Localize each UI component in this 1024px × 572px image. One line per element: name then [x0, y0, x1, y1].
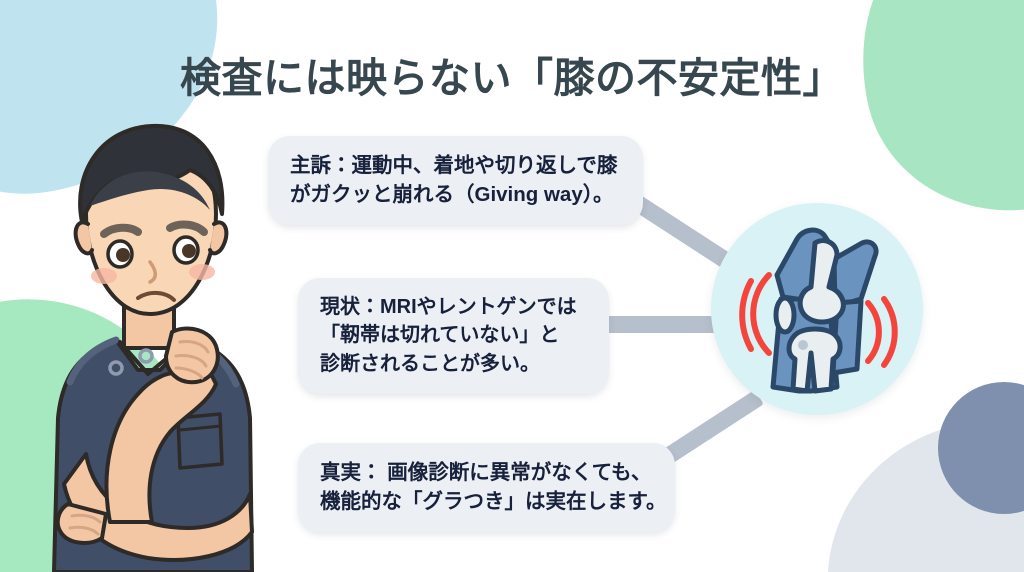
- pupil-right: [182, 244, 196, 258]
- callout-current-status: 現状：MRIやレントゲンでは 「靭帯は切れていない」と 診断されることが多い。: [298, 278, 609, 394]
- blush-right: [189, 264, 215, 280]
- page-title: 検査には映らない「膝の不安定性」: [0, 44, 1024, 104]
- callout-chief-complaint: 主訴：運動中、着地や切り返しで膝 がガクッと崩れる（Giving way）。: [268, 136, 643, 225]
- slide-canvas: 検査には映らない「膝の不安定性」 主訴：運動中、着地や切り返しで膝 がガクッと崩…: [0, 0, 1024, 572]
- callout-line: 現状：MRIやレントゲンでは: [320, 293, 587, 321]
- blob-bottom-right-grey: [819, 406, 1024, 572]
- callout-line: 「靭帯は切れていない」と: [320, 321, 587, 349]
- callout-line: がガクッと崩れる（Giving way）。: [290, 180, 621, 209]
- pain-arc-left-group: [742, 275, 769, 353]
- bone-detail-dot: [798, 340, 808, 350]
- callout-truth: 真実： 画像診断に異常がなくても、 機能的な「グラつき」は実在します。: [298, 443, 675, 532]
- knee-joint-illustration: [711, 203, 923, 415]
- patella-bone: [776, 298, 794, 332]
- callout-line: 真実： 画像診断に異常がなくても、: [320, 458, 653, 487]
- shoulder-snap-2: [140, 350, 152, 362]
- callout-line: 機能的な「グラつき」は実在します。: [320, 487, 653, 516]
- thinking-person-illustration: [20, 118, 310, 572]
- callout-line: 主訴：運動中、着地や切り返しで膝: [290, 151, 621, 180]
- callout-line: 診断されることが多い。: [320, 350, 587, 378]
- tibia-bone: [789, 329, 840, 391]
- blob-bottom-right-circle: [938, 382, 1024, 514]
- blush-left: [91, 268, 117, 284]
- pupil-left: [116, 248, 130, 262]
- pain-arc-right-group: [868, 299, 895, 365]
